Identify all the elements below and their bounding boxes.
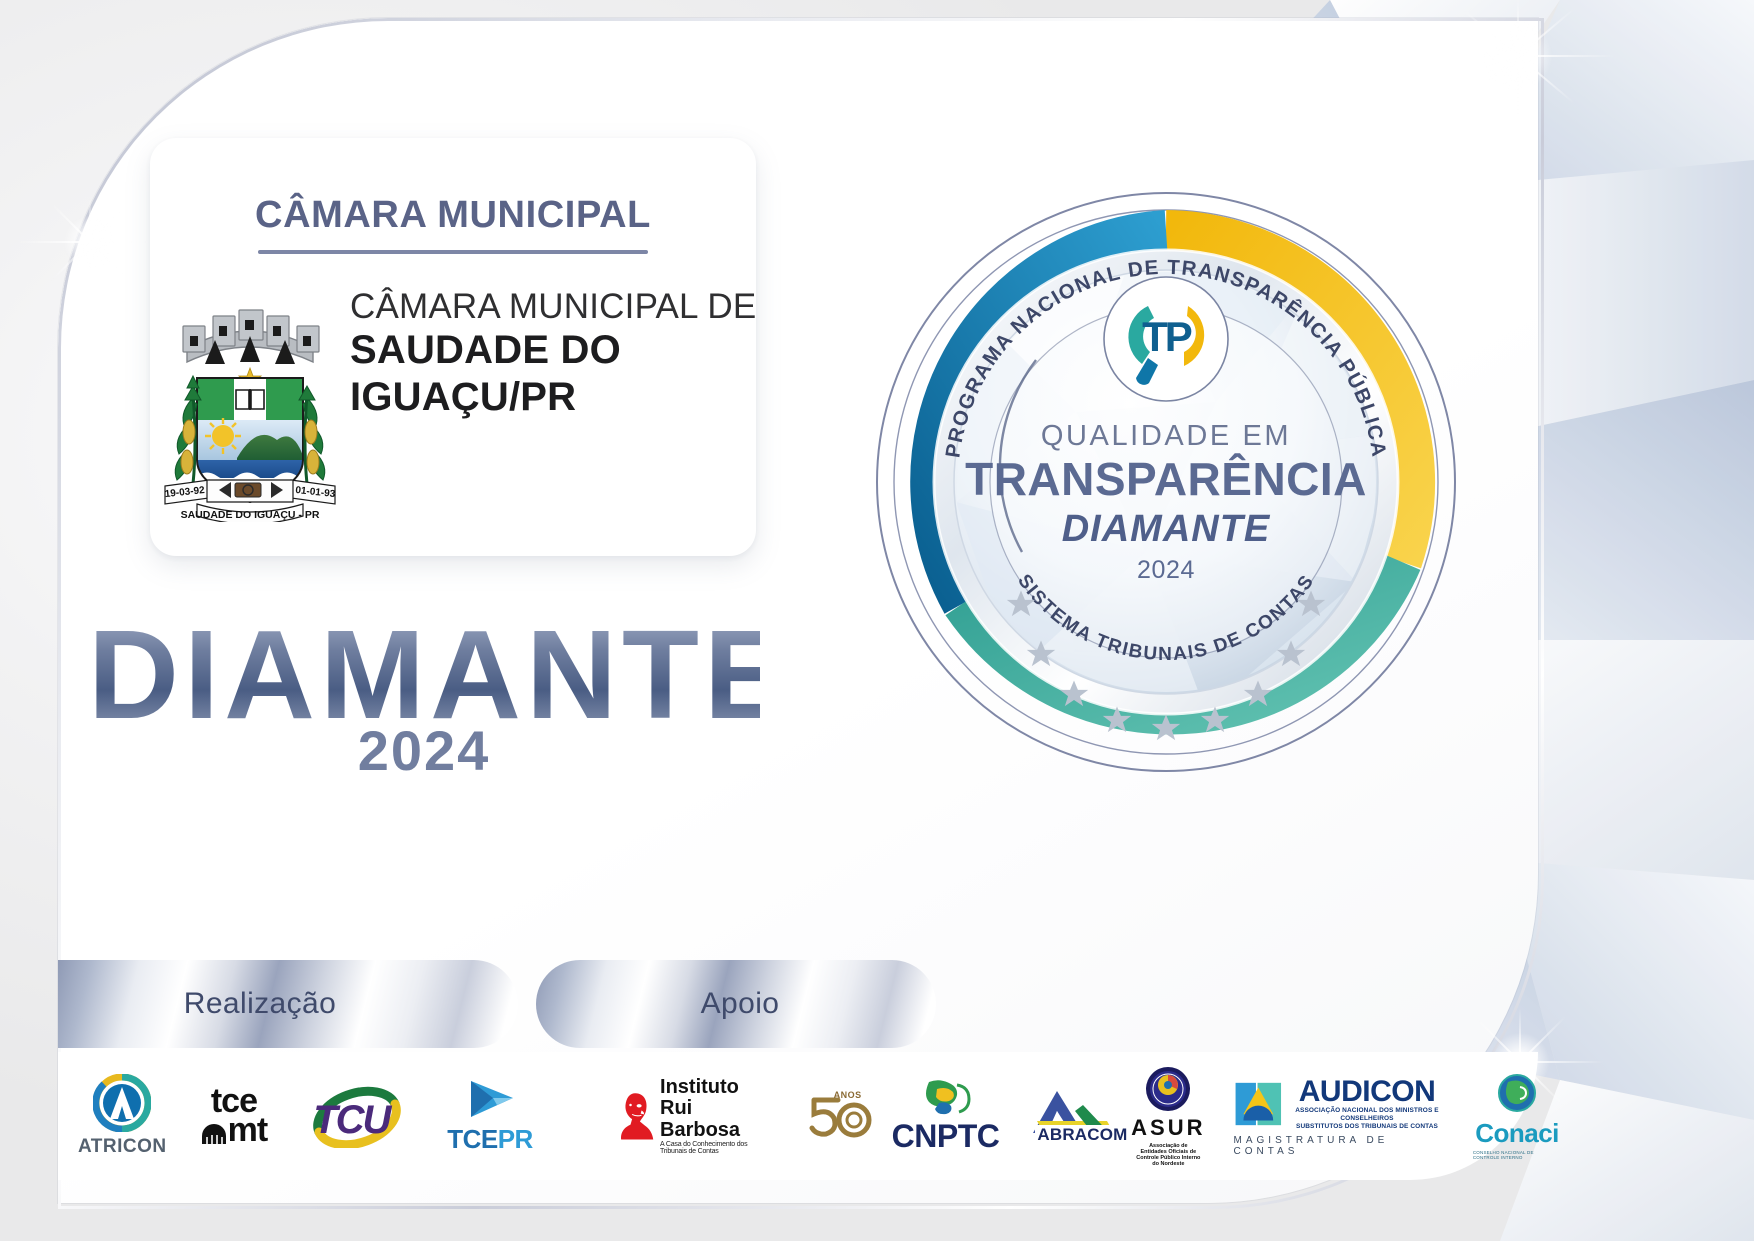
entity-name-block: CÂMARA MUNICIPAL DE SAUDADE DO IGUAÇU/PR	[350, 286, 778, 420]
fifty-years-label: ANOS	[834, 1090, 862, 1100]
audicon-tagline: MAGISTRATURA DE CONTAS	[1234, 1135, 1445, 1157]
book-icon	[236, 389, 264, 410]
coat-of-arms-icon: 19-03-92 01-01-93 SAUDADE DO IGUAÇU - PR	[150, 286, 350, 522]
logo-conaci: Conaci CONSELHO NACIONAL DE CONTROLE INT…	[1473, 1073, 1561, 1160]
realizacao-logos: ATRICON tce mt TCU	[78, 1052, 533, 1180]
logo-tce-mt: tce mt	[201, 1087, 268, 1145]
card-title-rule	[258, 250, 648, 254]
entity-card: CÂMARA MUNICIPAL	[150, 138, 756, 556]
conaci-label: Conaci	[1475, 1118, 1559, 1149]
tcu-label: TCU	[313, 1098, 389, 1143]
audicon-sub-line-1: ASSOCIAÇÃO NACIONAL DOS MINISTROS E CONS…	[1289, 1107, 1445, 1123]
asur-label: ASUR	[1131, 1115, 1205, 1141]
entity-name-line-2: IGUAÇU/PR	[350, 374, 756, 420]
apoio-logos: Instituto Rui Barbosa A Casa do Conhecim…	[618, 1052, 1561, 1180]
sponsor-footer: ATRICON tce mt TCU	[58, 1052, 1538, 1180]
ribbon-apoio-label: Apoio	[536, 987, 936, 1021]
audicon-label: AUDICON	[1299, 1077, 1436, 1107]
tcepr-triangle-icon	[463, 1077, 517, 1121]
atricon-icon	[93, 1074, 151, 1132]
mural-crown	[183, 310, 319, 364]
logo-instituto-rui-barbosa: Instituto Rui Barbosa A Casa do Conhecim…	[618, 1077, 776, 1156]
logo-atricon: ATRICON	[78, 1074, 167, 1158]
asur-tagline: Associação de Entidades Oficiais de Cont…	[1135, 1143, 1201, 1167]
logo-tce-pr: TCEPR	[447, 1077, 533, 1155]
entity-prefix: CÂMARA MUNICIPAL DE	[350, 286, 756, 327]
tcepr-label: TCEPR	[447, 1124, 533, 1155]
logo-abracom: ABRACOM	[1027, 1085, 1103, 1147]
sponsor-ribbons: Realização Apoio	[58, 960, 1538, 1048]
audicon-icon	[1234, 1075, 1283, 1133]
rui-barbosa-portrait-icon	[618, 1084, 654, 1148]
irb-tagline: A Casa do Conhecimento dos Tribunais de …	[660, 1141, 776, 1155]
conaci-globe-icon	[1494, 1073, 1540, 1117]
abracom-label: ABRACOM	[1035, 1125, 1129, 1145]
entity-name-line-1: SAUDADE DO	[350, 327, 756, 373]
asur-seal-icon	[1144, 1065, 1192, 1113]
ribbon-apoio: Apoio	[536, 960, 936, 1048]
building-icon	[201, 1123, 227, 1145]
award-year: 2024	[88, 718, 760, 783]
logo-audicon: AUDICON ASSOCIAÇÃO NACIONAL DOS MINISTRO…	[1234, 1075, 1445, 1157]
audicon-sub-line-2: SUBSTITUTOS DOS TRIBUNAIS DE CONTAS	[1296, 1123, 1438, 1131]
atricon-label: ATRICON	[78, 1136, 167, 1158]
cnptc-label: CNPTC	[892, 1118, 1000, 1155]
ribbon-realizacao: Realização	[58, 960, 518, 1048]
card-body: 19-03-92 01-01-93 SAUDADE DO IGUAÇU - PR	[150, 286, 756, 522]
logo-tcu: TCU	[301, 1084, 413, 1148]
irb-line-1: Instituto	[660, 1077, 776, 1099]
svg-text:TP: TP	[1142, 313, 1192, 360]
logo-50-anos: ANOS	[804, 1088, 864, 1144]
coat-banner-text: SAUDADE DO IGUAÇU - PR	[181, 509, 320, 521]
cnptc-brasil-icon	[917, 1077, 975, 1117]
logo-asur: ASUR Associação de Entidades Oficiais de…	[1131, 1065, 1205, 1167]
tce-mt-line-2: mt	[228, 1116, 268, 1145]
ribbon-realizacao-label: Realização	[58, 987, 518, 1021]
transparency-medal: TP PROGRAMA NACIONAL DE TRANSPARÊNCIA PÚ…	[836, 152, 1496, 812]
irb-line-2: Rui Barbosa	[660, 1098, 776, 1141]
certificate-page: CÂMARA MUNICIPAL	[0, 0, 1754, 1241]
card-title: CÂMARA MUNICIPAL	[150, 194, 756, 237]
logo-cnptc: CNPTC	[892, 1077, 1000, 1155]
conaci-tagline: CONSELHO NACIONAL DE CONTROLE INTERNO	[1473, 1150, 1561, 1160]
coat-of-arms-banner: 19-03-92 01-01-93 SAUDADE DO IGUAÇU - PR	[164, 480, 336, 522]
